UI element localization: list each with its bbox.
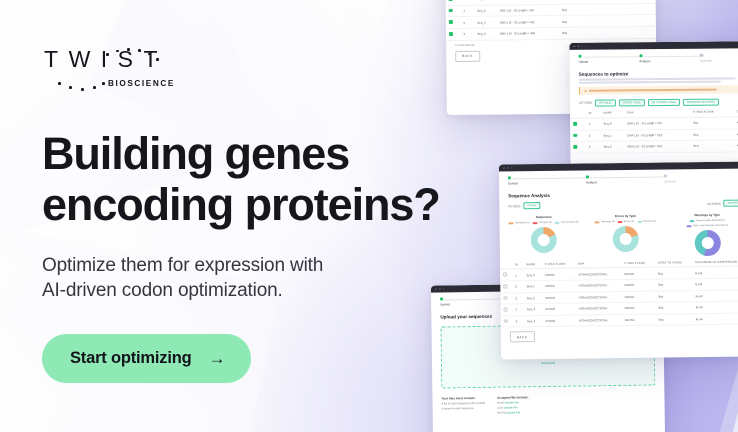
sample-file-link[interactable]: Sample File [506,411,520,414]
step-dot-icon [579,55,582,58]
step-analysis[interactable]: Analysis [639,54,700,64]
cell-name: Seq_0 [600,118,624,130]
th-name: NAME [523,260,541,269]
step-label: Optimize [700,59,738,64]
brand-tagline: BIOSCIENCE [108,79,175,88]
cell-flank5: ATCGG [542,315,576,327]
cell-organism: E.coli [692,278,738,290]
donut-chart [531,227,557,253]
list-item: FASTA Sample File [497,411,529,414]
actions-label: ACTIONS [579,101,592,105]
cell-dna: DNA 1 (5' - 3') Length = 597 [497,4,559,16]
chart-legend: Standard (41) Complex (6) Not Accepted (… [506,221,583,225]
actions-dropdown[interactable]: EXPORT [724,200,738,207]
cell-name: Seq_1 [524,281,543,293]
cell-sites: Seq [655,267,693,279]
legend-item: Passed (41) [637,220,656,223]
format-label: CSV [497,407,503,410]
results-table: ID NAME DNA 5' END FLANK VALIDATION STAT… [445,0,656,41]
cell-flank3: GGTAC [622,314,656,326]
chip-codon-table[interactable]: CODON TABLE [619,99,645,106]
chart-warnings: Warnings by Type Repeat region detected … [669,213,738,257]
cell-dna: DNA 1 (5' - 3') Length = 462 [497,16,559,28]
cell-id: 4 [512,304,523,316]
cell-flank3: GGTAC [622,302,656,314]
cell-flank: Seq [690,117,734,129]
cell-name: Seq_3 [524,304,543,316]
cell-dna: ATGAAGCACCTGTAA... [576,314,622,326]
th-check [500,261,512,270]
screenshot-optimize-panel: Upload Analysis Optimize Sequences to op… [569,41,738,178]
cell-flank: Seq [690,140,734,152]
cell-flank5: ATCGG [542,292,576,304]
subheading-line-1: Optimize them for expression with [42,255,323,276]
analysis-table: ID NAME 5' DNA FLANK DNA 3' DNA FLANK SI… [500,258,738,328]
cell-flank: Seq [690,129,734,141]
cell-name: Seq_5 [474,28,497,40]
step-upload[interactable]: Upload [579,54,640,64]
row-checkbox[interactable] [446,28,461,40]
cell-id: 3 [512,292,523,304]
chart-sequences: Sequences Standard (41) Complex (6) Not … [505,215,582,259]
subheading: Optimize them for expression with AI-dri… [42,253,472,305]
logo-letter: T [44,46,69,73]
panel-fineprint [570,78,738,84]
chart-legend: Warnings (9) Errors (2) Passed (41) [587,220,664,224]
cell-sites: Seq [655,279,693,291]
hero-stage: ID NAME DNA 5' END FLANK VALIDATION STAT… [0,0,738,432]
list-item: A list of valid sequences (56 nt DNA) [442,402,486,406]
cell-dna: ATGAAGCACCTGTAA... [575,268,621,280]
chip-advanced-settings[interactable]: ADVANCED SETTINGS [683,99,719,106]
cell-id: 1 [512,269,523,281]
list-item: Excel Sample File [497,402,529,405]
row-checkbox[interactable] [500,281,512,293]
cell-name: Seq_0 [523,269,542,281]
step-dot-icon [700,54,703,57]
headline-line-2: encoding proteins? [42,179,472,230]
page-title: Building genes encoding proteins? [42,128,472,231]
choose-file-link[interactable]: choose file [541,361,555,365]
cell-flank3: GGTAC [621,268,655,280]
format-label: FASTA [497,411,505,414]
legend-item: Not Accepted (0) [555,221,579,224]
legend-item: Standard (41) [509,222,530,225]
upload-help: Your files must contain: A list of valid… [432,391,664,424]
cell-id: 5 [460,17,474,29]
cell-dna: ATGAAGCACCTGTAA... [576,291,622,303]
chart-title: Sequences [505,215,582,220]
step-label: Analysis [586,180,664,185]
filters-label: FILTERS [508,204,520,208]
step-optimize[interactable]: Optimize [664,174,738,184]
cell-dna: ATGAAGCACCTGTAA... [575,280,621,292]
cell-organism: No organism [734,140,738,152]
legend-item: Errors (2) [618,220,634,223]
row-checkbox[interactable] [446,17,461,29]
list-item: CSV Sample File [497,406,529,409]
cell-organism: No organism [734,117,738,129]
chart-legend: Repeat region detected (5) High codon di… [669,219,738,228]
cell-id: 4 [460,5,474,17]
row-checkbox[interactable] [501,304,513,316]
format-label: Excel [497,402,504,405]
cell-name: Seq_4 [524,315,543,327]
donut-chart [613,226,639,252]
brand-logo[interactable]: T W I S T BIOSCIENCE [42,46,198,98]
cell-id: 2 [512,281,523,293]
cell-id: 2 [586,130,601,142]
warning-banner: ▲ [579,85,738,95]
cell-id: 5 [513,316,524,328]
step-dot-icon [586,175,589,178]
th-name: NAME [600,109,624,118]
cell-flank: Seq [559,4,600,16]
analysis-charts: Sequences Standard (41) Complex (6) Not … [499,210,738,261]
cell-organism: No organism [734,128,738,140]
step-analysis[interactable]: Analysis [586,175,664,185]
sample-file-link[interactable]: Sample File [503,406,517,409]
cell-flank: Seq [559,15,600,27]
cell-name: Seq_4 [474,16,497,28]
row-checkbox[interactable] [570,130,586,142]
actions-label: ACTIONS [707,202,720,206]
logo-letter: W [69,46,101,73]
chip-set-codon-table[interactable]: SET CODON TABLE [648,99,680,106]
requirements-title: Your files must contain: [441,396,485,401]
subheading-line-2: AI-driven codon optimization. [42,280,283,301]
cell-dna: ATGAAGCACCTGTAA... [576,303,622,315]
cell-status [600,3,656,15]
wizard-stepper: Upload Analysis Optimize [569,48,738,68]
hero-content: T W I S T BIOSCIENCE Building genes enco… [42,46,472,383]
brand-wordmark: T W I S T [42,46,198,73]
cell-dna: DNA 1 (5' - 3') Length = 213 [624,129,690,141]
step-label: Optimize [664,179,738,184]
cell-sites: Seq [655,290,693,302]
arrow-right-icon: → [208,350,225,367]
th-id: ID [512,261,523,270]
cell-name: Seq_3 [474,5,497,17]
chart-title: Errors by Type [587,214,664,219]
table-row[interactable]: 5 Seq_4 ATCGG ATGAAGCACCTGTAA... GGTAC S… [501,313,738,328]
step-label: Analysis [639,59,700,64]
th-flank: 5' END FLANK [690,108,734,117]
row-checkbox[interactable] [500,292,512,304]
warning-triangle-icon: ▲ [584,89,587,93]
cell-flank3: GGTAC [622,291,656,303]
row-checkbox[interactable] [570,118,586,130]
step-upload[interactable]: Upload [508,175,586,185]
cell-sites: Seq [655,313,693,325]
th-id: ID [586,110,601,119]
step-dot-icon [664,174,667,177]
legend-item: Warnings (9) [595,221,615,224]
cell-name: Seq_2 [524,292,543,304]
row-checkbox[interactable] [570,141,586,153]
cell-flank5: ATCGG [542,303,576,315]
row-checkbox[interactable] [446,5,461,17]
step-dot-icon [639,54,642,57]
legend-item: Complex (6) [533,221,552,224]
formats-title: Accepted file formats: [497,396,529,400]
chart-errors: Errors by Type Warnings (9) Errors (2) P… [587,214,664,258]
cell-flank5: ATCGG [542,280,576,292]
step-label: Upload [508,181,586,186]
cell-flank5: ATCGG [542,269,576,281]
step-optimize[interactable]: Optimize [700,53,738,63]
th-organism: ORGANISM [734,108,738,117]
row-checkbox[interactable] [500,269,512,281]
screenshot-analysis-panel: Upload Analysis Optimize Sequence Analys… [499,161,738,359]
chart-title: Warnings by Type [669,213,738,218]
back-button[interactable]: BACK [510,331,535,342]
cell-name: Seq_2 [601,141,625,153]
cell-status [600,26,656,38]
chip-optimize[interactable]: OPTIMIZE [595,99,615,106]
table-row[interactable]: 3 Seq_2 DNA 1 (5' - 3') Length = 213 Seq… [570,140,738,153]
row-checkbox[interactable] [501,316,513,328]
step-dot-icon [508,176,511,179]
cell-id: 6 [461,28,475,40]
cell-dna: DNA 1 (5' - 3') Length = 498 [497,27,559,39]
legend-item: High codon diversity detected (4) [687,224,728,228]
requirements-col: Your files must contain: A list of valid… [441,396,485,416]
cell-organism: E.coli [693,313,738,325]
cell-flank: Seq [559,27,600,39]
legend-item: Repeat region detected (5) [690,219,725,222]
step-label: Upload [579,60,640,65]
cell-flank3: GGTAC [621,279,655,291]
start-optimizing-button[interactable]: Start optimizing → [42,334,251,383]
cell-id: 1 [586,118,601,130]
cell-status [600,15,656,27]
cell-sites: Seq [655,302,693,314]
th-check [570,110,586,119]
cell-organism: E.coli [693,301,738,313]
optimize-table: ID NAME DNA 5' END FLANK ORGANISM 1 Seq_… [570,108,738,154]
list-item: A name for each sequence [442,407,486,411]
headline-line-1: Building genes [42,128,472,179]
formats-col: Accepted file formats: Excel Sample File… [497,396,529,416]
donut-chart [694,230,720,256]
cell-name: Seq_1 [600,129,624,141]
filters-dropdown[interactable]: FILTER [523,202,540,209]
cell-id: 3 [586,141,601,153]
cell-dna: DNA 1 (5' - 3') Length = 570 [624,117,690,129]
sample-file-link[interactable]: Sample File [504,402,518,405]
cta-label: Start optimizing [70,349,191,368]
cell-organism: E.coli [692,266,738,278]
cell-dna: DNA 1 (5' - 3') Length = 213 [624,140,690,152]
cell-organism: E.coli [693,290,738,302]
